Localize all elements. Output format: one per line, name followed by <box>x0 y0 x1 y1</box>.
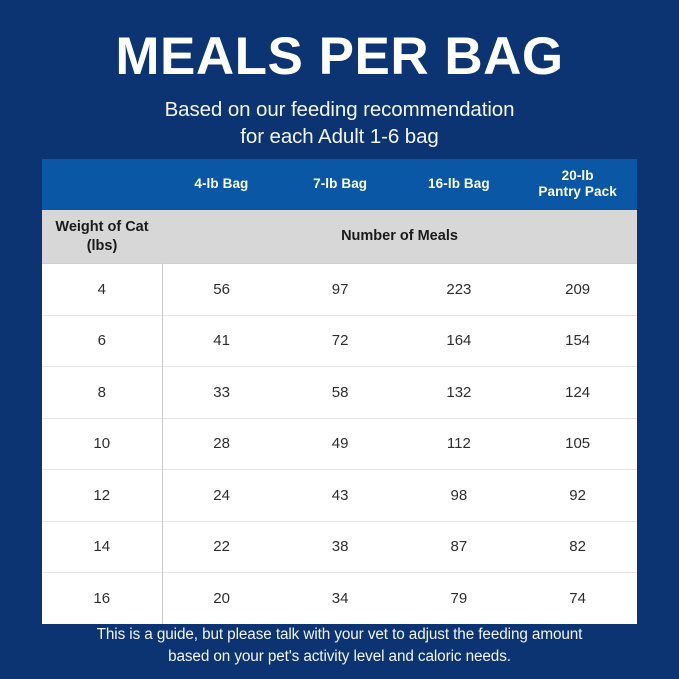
cell-bag-20lb: 74 <box>518 573 637 624</box>
cell-bag-16lb: 98 <box>400 470 519 522</box>
header-cell-empty <box>42 159 162 210</box>
cell-weight: 14 <box>42 521 162 573</box>
weight-header-line1: Weight of Cat <box>46 218 158 237</box>
cell-bag-20lb: 92 <box>518 470 637 522</box>
footnote: This is a guide, but please talk with yo… <box>0 624 679 667</box>
cell-bag-4lb: 22 <box>162 521 281 573</box>
cell-bag-16lb: 223 <box>400 264 519 316</box>
meals-table-container: 4-lb Bag 7-lb Bag 16-lb Bag 20-lb Pantry… <box>42 159 637 624</box>
meals-per-bag-infographic: MEALS PER BAG Based on our feeding recom… <box>0 0 679 679</box>
cell-bag-20lb: 82 <box>518 521 637 573</box>
cell-weight: 8 <box>42 367 162 419</box>
weight-header-line2: (lbs) <box>46 237 158 256</box>
cell-bag-16lb: 112 <box>400 418 519 470</box>
heading-block: MEALS PER BAG Based on our feeding recom… <box>0 0 679 150</box>
bag-4lb-label-line1: 4-lb Bag <box>164 176 279 192</box>
footnote-line-1: This is a guide, but please talk with yo… <box>40 624 639 646</box>
meals-table-body: 4 56 97 223 209 6 41 72 164 154 8 33 58 <box>42 264 637 624</box>
table-row: 16 20 34 79 74 <box>42 573 637 624</box>
cell-bag-16lb: 87 <box>400 521 519 573</box>
cell-weight: 4 <box>42 264 162 316</box>
bag-16lb-label-line1: 16-lb Bag <box>402 176 517 192</box>
cell-weight: 6 <box>42 315 162 367</box>
header-cell-number-of-meals: Number of Meals <box>162 210 637 264</box>
header-cell-bag-4lb: 4-lb Bag <box>162 159 281 210</box>
cell-weight: 10 <box>42 418 162 470</box>
cell-bag-4lb: 41 <box>162 315 281 367</box>
cell-bag-7lb: 38 <box>281 521 400 573</box>
cell-bag-7lb: 49 <box>281 418 400 470</box>
subtitle-line-1: Based on our feeding recommendation <box>0 96 679 123</box>
footnote-line-2: based on your pet's activity level and c… <box>40 646 639 668</box>
subtitle-line-2: for each Adult 1-6 bag <box>0 123 679 150</box>
bag-7lb-label-line1: 7-lb Bag <box>283 176 398 192</box>
cell-bag-7lb: 97 <box>281 264 400 316</box>
cell-bag-16lb: 132 <box>400 367 519 419</box>
table-row: 8 33 58 132 124 <box>42 367 637 419</box>
cell-bag-20lb: 105 <box>518 418 637 470</box>
cell-bag-7lb: 72 <box>281 315 400 367</box>
page-subtitle: Based on our feeding recommendation for … <box>0 96 679 150</box>
bag-20lb-label-line2: Pantry Pack <box>520 184 635 200</box>
cell-bag-4lb: 24 <box>162 470 281 522</box>
page-title: MEALS PER BAG <box>0 30 679 84</box>
header-cell-bag-16lb: 16-lb Bag <box>400 159 519 210</box>
table-row: 12 24 43 98 92 <box>42 470 637 522</box>
cell-bag-7lb: 34 <box>281 573 400 624</box>
header-cell-weight-of-cat: Weight of Cat (lbs) <box>42 210 162 264</box>
header-cell-bag-20lb-pantry: 20-lb Pantry Pack <box>518 159 637 210</box>
cell-bag-20lb: 124 <box>518 367 637 419</box>
cell-bag-4lb: 56 <box>162 264 281 316</box>
meals-table: 4-lb Bag 7-lb Bag 16-lb Bag 20-lb Pantry… <box>42 159 637 624</box>
cell-bag-16lb: 79 <box>400 573 519 624</box>
cell-bag-7lb: 43 <box>281 470 400 522</box>
cell-bag-20lb: 209 <box>518 264 637 316</box>
table-row: 14 22 38 87 82 <box>42 521 637 573</box>
cell-bag-4lb: 28 <box>162 418 281 470</box>
cell-bag-4lb: 20 <box>162 573 281 624</box>
cell-weight: 16 <box>42 573 162 624</box>
table-row: 4 56 97 223 209 <box>42 264 637 316</box>
table-row: 6 41 72 164 154 <box>42 315 637 367</box>
header-cell-bag-7lb: 7-lb Bag <box>281 159 400 210</box>
bag-20lb-label-line1: 20-lb <box>520 168 635 184</box>
cell-bag-4lb: 33 <box>162 367 281 419</box>
cell-weight: 12 <box>42 470 162 522</box>
table-header-row-meals: Weight of Cat (lbs) Number of Meals <box>42 210 637 264</box>
table-header-row-bags: 4-lb Bag 7-lb Bag 16-lb Bag 20-lb Pantry… <box>42 159 637 210</box>
cell-bag-7lb: 58 <box>281 367 400 419</box>
table-row: 10 28 49 112 105 <box>42 418 637 470</box>
cell-bag-20lb: 154 <box>518 315 637 367</box>
cell-bag-16lb: 164 <box>400 315 519 367</box>
